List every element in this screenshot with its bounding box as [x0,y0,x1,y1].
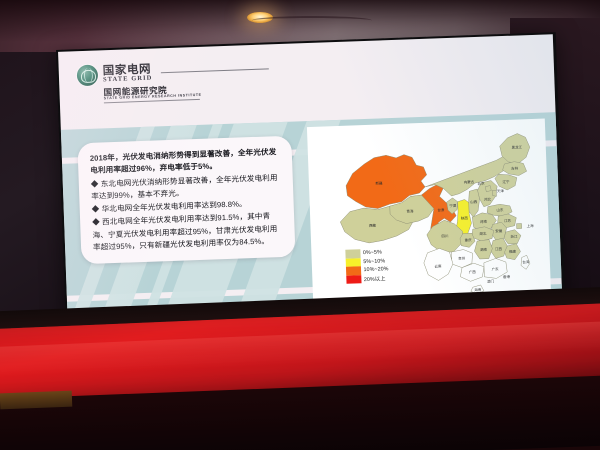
map-label-guangdong: 广东 [492,266,500,271]
map-label-hebei: 河北 [484,197,492,202]
state-grid-globe-icon [77,65,99,87]
legend-label: 20%以上 [364,274,386,283]
map-label-yunnan: 云南 [434,263,442,268]
map-label-qinghai: 青海 [406,208,414,213]
map-label-shaanxi: 陕西 [461,215,469,220]
map-label-shanxi: 山西 [470,199,478,204]
legend-row: 20%以上 [346,274,389,284]
floor-trim-strip [0,391,72,410]
text-bullet-item: ◆ 西北电网全年光伏发电利用率达到91.5%，其中青海、宁夏光伏发电利用率超过9… [92,210,284,254]
map-label-fujian: 福建 [509,249,517,254]
map-label-anhui: 安徽 [495,228,503,233]
conference-room-photo: 国家电网 STATE GRID 国网能源研究院 STATE GRID ENERG… [0,0,600,450]
slide-text-panel: 2018年，光伏发电消纳形势得到显著改善，全年光伏发电利用率超过96%，弃电率低… [77,136,295,265]
carpet-highlight [0,320,600,378]
legend-label: 5%~10% [363,258,385,265]
map-svg: 新疆 西藏 青海 甘肃 宁夏 陕西 内蒙古 黑龙江 吉林 辽宁 河北 北京 [307,119,551,305]
map-label-guangxi: 广西 [469,269,477,274]
projector-screen: 国家电网 STATE GRID 国网能源研究院 STATE GRID ENERG… [56,32,565,322]
map-label-tibet: 西藏 [369,223,377,228]
logo-org-name-en: STATE GRID [103,76,152,84]
map-label-heilongjiang: 黑龙江 [511,144,522,149]
ceiling-seam [252,16,372,25]
logo-divider [161,68,269,73]
map-label-jilin: 吉林 [511,166,519,171]
china-choropleth-map: 新疆 西藏 青海 甘肃 宁夏 陕西 内蒙古 黑龙江 吉林 辽宁 河北 北京 [307,119,551,305]
map-label-gansu: 甘肃 [437,207,445,212]
legend-label: 0%~5% [363,250,382,257]
screen-bezel: 国家电网 STATE GRID 国网能源研究院 STATE GRID ENERG… [56,32,565,322]
map-legend: 0%~5% 5%~10% 10%~20% 20%以上 [345,248,389,283]
presentation-slide: 国家电网 STATE GRID 国网能源研究院 STATE GRID ENERG… [58,34,562,319]
map-label-xinjiang: 新疆 [375,180,383,185]
map-label-guizhou: 贵州 [458,255,466,260]
map-label-henan: 河南 [480,219,488,224]
legend-swatch [346,275,361,284]
map-label-chongqing: 重庆 [464,237,472,242]
map-label-liaoning: 辽宁 [502,179,510,184]
map-label-sichuan: 四川 [441,234,449,238]
map-label-shandong: 山东 [496,207,504,212]
map-label-hubei: 湖北 [479,231,487,236]
map-label-zhejiang: 浙江 [510,234,518,239]
map-label-taiwan: 台湾 [522,259,530,264]
map-label-hunan: 湖南 [480,247,488,252]
map-label-ningxia: 宁夏 [449,203,457,208]
map-label-tianjin: 天津 [497,188,505,193]
province-shanghai [517,223,522,228]
legend-label: 10%~20% [363,266,388,273]
map-label-jiangsu: 江苏 [504,218,512,223]
map-label-jiangxi: 江西 [495,246,503,251]
map-label-beijing: 北京 [477,181,485,186]
map-label-inner-mongolia: 内蒙古 [464,179,475,184]
province-beijing [485,186,491,192]
map-label-shanghai: 上海 [526,223,534,228]
map-label-hongkong: 香港 [503,274,511,279]
map-label-macau: 澳门 [487,278,495,283]
state-grid-logo: 国家电网 STATE GRID 国网能源研究院 STATE GRID ENERG… [77,58,271,104]
